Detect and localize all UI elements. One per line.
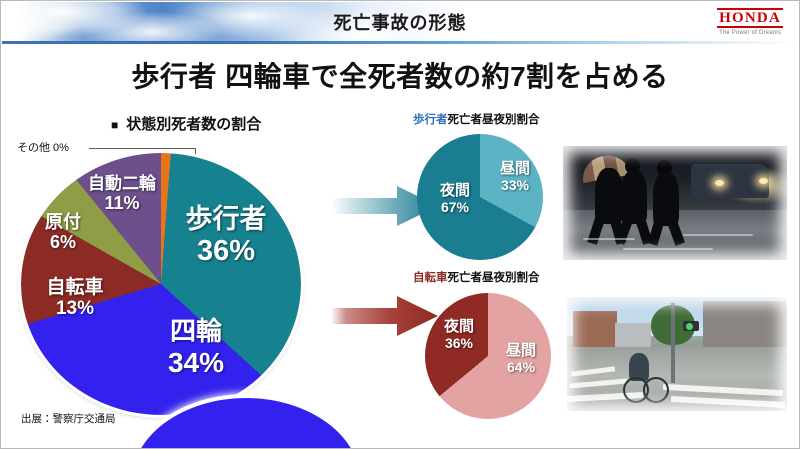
header-divider-rule bbox=[2, 41, 800, 44]
pie-slice-value-bicycle-night: 36% bbox=[431, 336, 487, 351]
pie-slice-value-bicycle-daytime: 64% bbox=[493, 360, 549, 375]
bicycle-chart-title-rest: 死亡者昼夜別割合 bbox=[448, 272, 540, 284]
photo-car bbox=[691, 164, 769, 198]
photo-wet-road-reflection bbox=[583, 238, 635, 240]
photo-bicycle-wheel bbox=[643, 377, 669, 403]
pie-slice-name-bicycle-night: 夜間 bbox=[431, 319, 487, 335]
pie-slice-name-moped: 原付 bbox=[21, 213, 105, 232]
bicycle-chart-title: 自転車死亡者昼夜別割合 bbox=[413, 269, 540, 285]
pie-slice-label-moped: 原付 6% bbox=[21, 213, 105, 252]
pie-slice-label-bicycle-night: 夜間 36% bbox=[431, 319, 487, 350]
pedestrian-chart-title-rest: 死亡者昼夜別割合 bbox=[448, 114, 540, 126]
pie-slice-label-bicycle-daytime: 昼間 64% bbox=[493, 343, 549, 374]
photo-wet-road-reflection bbox=[623, 248, 713, 250]
pie-slice-value-motorcycle: 11% bbox=[61, 194, 183, 213]
pie-slice-name-pedestrian-daytime: 昼間 bbox=[487, 161, 543, 177]
pie-slice-name-pedestrian-night: 夜間 bbox=[427, 183, 483, 199]
other-slice-leader-line bbox=[89, 148, 196, 149]
pie-slice-label-motorcycle: 自動二輪 11% bbox=[61, 175, 183, 213]
pedestrian-chart-title: 歩行者死亡者昼夜別割合 bbox=[413, 111, 540, 127]
slide: 死亡事故の形態 HONDA The Power of Dreams 歩行者 四輪… bbox=[0, 0, 800, 449]
honda-logo: HONDA The Power of Dreams bbox=[717, 8, 783, 36]
source-note: 出展：警察庁交通局 bbox=[21, 411, 116, 426]
pie-slice-value-bicycle: 13% bbox=[27, 299, 123, 319]
pie-slice-name-motorcycle: 自動二輪 bbox=[61, 175, 183, 193]
pie-slice-value-four-wheel: 34% bbox=[131, 348, 261, 377]
pedestrian-chart-title-accent: 歩行者 bbox=[413, 114, 448, 126]
left-section-title: ■状態別死者数の割合 bbox=[111, 113, 261, 134]
pie-slice-label-pedestrian-night: 夜間 67% bbox=[427, 183, 483, 214]
honda-tagline: The Power of Dreams bbox=[717, 30, 783, 36]
arrow-to-bicycle-chart bbox=[331, 293, 439, 339]
photo-headlight bbox=[759, 178, 768, 184]
pie-slice-label-pedestrian-daytime: 昼間 33% bbox=[487, 161, 543, 192]
photo-pedestrian bbox=[653, 172, 679, 226]
main-status-pie: 歩行者 36% 四輪 34% 自転車 13% 原付 6% 自動二輪 11% bbox=[21, 153, 301, 415]
photo-signal-pole bbox=[671, 303, 675, 383]
daytime-cyclist-crosswalk-photo bbox=[567, 297, 787, 411]
night-pedestrian-crossing-photo bbox=[563, 146, 787, 260]
honda-wordmark: HONDA bbox=[717, 8, 783, 28]
photo-pedestrian bbox=[595, 168, 623, 224]
photo-headlight bbox=[715, 180, 724, 186]
pie-slice-label-four-wheel: 四輪 34% bbox=[131, 318, 261, 378]
left-section-title-text: 状態別死者数の割合 bbox=[126, 116, 261, 133]
photo-pedestrian bbox=[621, 170, 647, 224]
pie-slice-value-moped: 6% bbox=[21, 233, 105, 252]
bullet-square-icon: ■ bbox=[111, 118, 118, 132]
pie-slice-value-pedestrian-night: 67% bbox=[427, 200, 483, 215]
pie-slice-name-bicycle-daytime: 昼間 bbox=[493, 343, 549, 359]
photo-green-light bbox=[686, 323, 693, 330]
pie-slice-label-bicycle: 自転車 13% bbox=[27, 278, 123, 319]
pie-slice-label-pedestrian: 歩行者 36% bbox=[161, 205, 291, 267]
pie-slice-value-pedestrian-daytime: 33% bbox=[487, 178, 543, 193]
pie-slice-value-pedestrian: 36% bbox=[161, 236, 291, 266]
page-title: 歩行者 四輪車で全死者数の約7割を占める bbox=[1, 55, 799, 95]
bicycle-chart-title-accent: 自転車 bbox=[413, 272, 448, 284]
photo-wet-road-reflection bbox=[683, 234, 753, 236]
pie-slice-name-four-wheel: 四輪 bbox=[131, 318, 261, 345]
pie-slice-name-bicycle: 自転車 bbox=[27, 278, 123, 298]
header-title: 死亡事故の形態 bbox=[1, 9, 799, 35]
